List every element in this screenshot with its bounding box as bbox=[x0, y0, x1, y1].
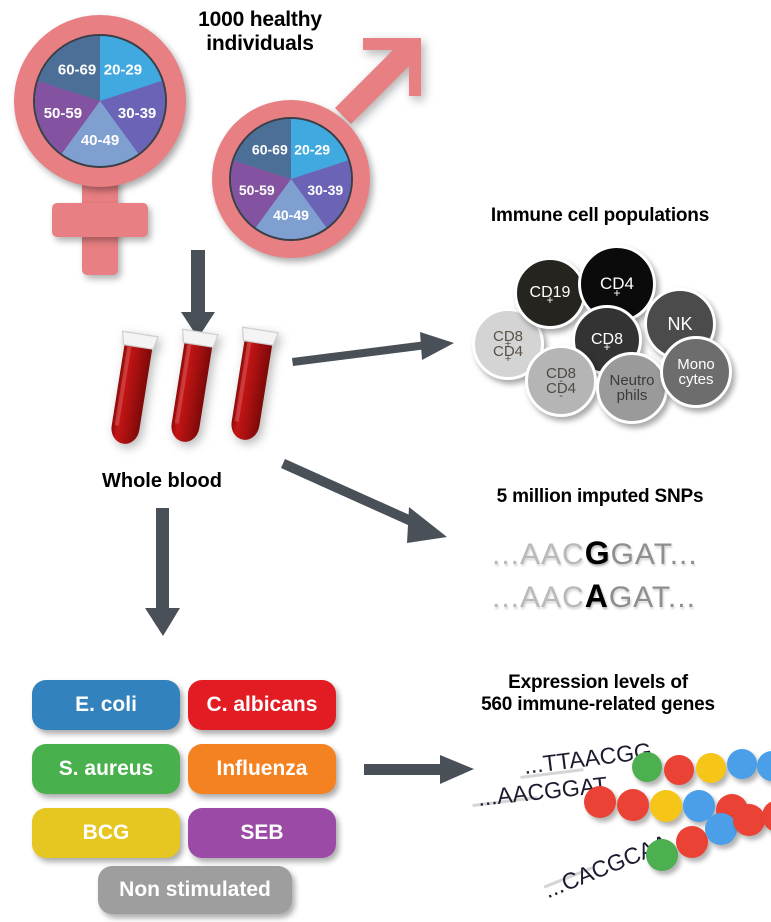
snp-suffix: GAT... bbox=[611, 538, 698, 571]
arrow-blood-to-stimuli bbox=[143, 508, 183, 638]
stimulus-c-albicans[interactable]: C. albicans bbox=[188, 680, 336, 730]
cell-label: CD8+ bbox=[591, 332, 623, 348]
rna-bead bbox=[617, 789, 649, 821]
cell-line-2: phils bbox=[609, 388, 654, 403]
cell-line-2: CD4- bbox=[546, 381, 576, 396]
rna-bead bbox=[584, 786, 616, 818]
pie-slice-label: 40-49 bbox=[81, 132, 119, 149]
rna-bead bbox=[762, 800, 771, 832]
female-age-pie: 20-2930-3940-4950-5960-69 bbox=[33, 34, 167, 168]
cell-line-1: Mono bbox=[677, 357, 715, 372]
rna-bead bbox=[676, 826, 708, 858]
stimulus-label: BCG bbox=[83, 821, 130, 845]
cell-cd19-positive: CD19+ bbox=[514, 257, 586, 329]
arrow-stimuli-to-genes bbox=[364, 752, 476, 788]
rna-bead bbox=[664, 755, 694, 785]
stimulus-seb[interactable]: SEB bbox=[188, 808, 336, 858]
snp-suffix: GAT... bbox=[609, 581, 696, 614]
rna-bead bbox=[650, 790, 682, 822]
cell-line-1: Neutro bbox=[609, 373, 654, 388]
cell-monocytes: Mono cytes bbox=[660, 336, 732, 408]
stimulus-label: Non stimulated bbox=[119, 878, 271, 902]
pie-slice-label: 50-59 bbox=[239, 182, 275, 198]
cell-line-2: cytes bbox=[677, 372, 715, 387]
rna-bead bbox=[696, 753, 726, 783]
pie-slice-label: 40-49 bbox=[273, 207, 309, 223]
pie-slice-label: 20-29 bbox=[294, 142, 330, 158]
snp-row-2: ...AACAGAT... bbox=[492, 578, 696, 615]
stimulus-influenza[interactable]: Influenza bbox=[188, 744, 336, 794]
stimulus-label: S. aureus bbox=[59, 757, 154, 781]
cell-label: CD19+ bbox=[530, 285, 571, 301]
arrow-blood-to-immune bbox=[292, 330, 457, 375]
immune-title: Immune cell populations bbox=[440, 205, 760, 227]
cell-label: CD4+ bbox=[600, 275, 634, 292]
genes-title-line2: 560 immune-related genes bbox=[430, 694, 766, 716]
rna-bead bbox=[757, 751, 771, 781]
stimulus-label: Influenza bbox=[216, 757, 307, 781]
age-distribution-pie-svg: 20-2930-3940-4950-5960-69 bbox=[35, 36, 165, 166]
snps-title: 5 million imputed SNPs bbox=[440, 486, 760, 508]
cell-line-2: CD4+ bbox=[493, 344, 523, 359]
pie-slice-label: 50-59 bbox=[44, 105, 82, 122]
stimulus-s-aureus[interactable]: S. aureus bbox=[32, 744, 180, 794]
pie-slice-label: 20-29 bbox=[104, 62, 142, 79]
cell-neutrophils: Neutro phils bbox=[596, 352, 668, 424]
genes-title: Expression levels of 560 immune-related … bbox=[430, 672, 766, 716]
stimulus-bcg[interactable]: BCG bbox=[32, 808, 180, 858]
male-age-pie: 20-2930-3940-4950-5960-69 bbox=[229, 117, 353, 241]
rna-bead bbox=[632, 752, 662, 782]
stimulus-label: SEB bbox=[240, 821, 283, 845]
rna-bead bbox=[727, 749, 757, 779]
female-stem-horizontal bbox=[52, 203, 148, 237]
snp-prefix: ...AAC bbox=[492, 538, 585, 571]
cell-cd8-cd4-double-negative: CD8- CD4- bbox=[525, 345, 597, 417]
blood-tubes-svg bbox=[95, 325, 310, 470]
male-arrow-glyph bbox=[325, 22, 435, 132]
stimulus-label: C. albicans bbox=[207, 693, 318, 717]
stimulus-e-coli[interactable]: E. coli bbox=[32, 680, 180, 730]
genes-title-line1: Expression levels of bbox=[430, 672, 766, 694]
pie-slice-label: 60-69 bbox=[252, 142, 288, 158]
age-distribution-pie-svg: 20-2930-3940-4950-5960-69 bbox=[231, 119, 351, 239]
pie-slice-label: 60-69 bbox=[58, 62, 96, 79]
whole-blood-label: Whole blood bbox=[82, 470, 242, 493]
arrow-blood-to-snps bbox=[285, 455, 455, 555]
cell-line-1: CD8- bbox=[546, 366, 576, 381]
figure-canvas: 1000 healthy individuals 20-2930-3940-49… bbox=[0, 0, 771, 922]
snp-variant-allele: G bbox=[585, 535, 611, 571]
stimulus-non-stimulated[interactable]: Non stimulated bbox=[98, 866, 292, 914]
cell-line-1: CD8+ bbox=[493, 329, 523, 344]
stimulus-label: E. coli bbox=[75, 693, 137, 717]
rna-bead bbox=[733, 804, 765, 836]
snp-variant-allele: A bbox=[585, 578, 609, 614]
snp-prefix: ...AAC bbox=[492, 581, 585, 614]
rna-bead bbox=[646, 839, 678, 871]
cell-label: NK bbox=[667, 315, 692, 333]
snp-row-1: ...AACGGAT... bbox=[492, 535, 698, 572]
pie-slice-label: 30-39 bbox=[307, 182, 343, 198]
pie-slice-label: 30-39 bbox=[118, 105, 156, 122]
